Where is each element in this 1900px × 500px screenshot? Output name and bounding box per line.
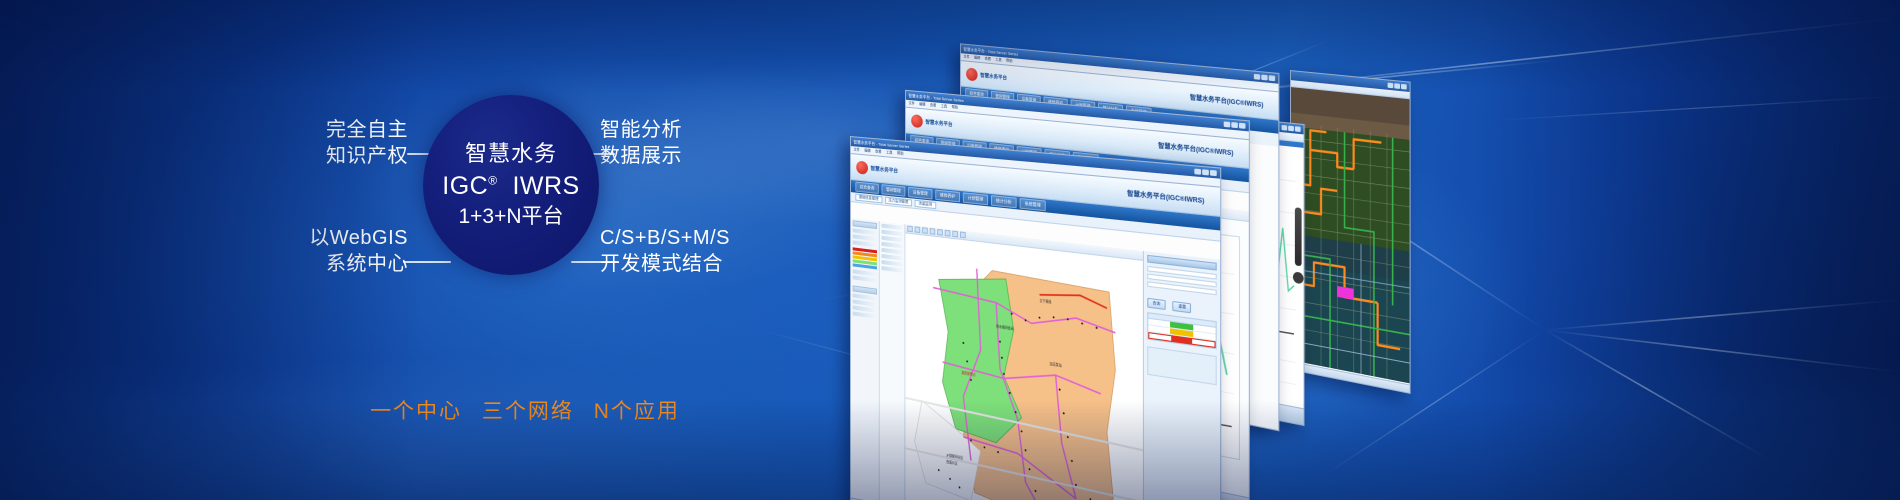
layer-tree-row[interactable]	[853, 275, 877, 282]
print-tool-icon	[952, 231, 958, 238]
feature-tree-pane[interactable]	[880, 221, 906, 500]
satellite-map-canvas[interactable]	[1291, 87, 1410, 383]
select-tool-icon	[930, 228, 936, 235]
zoom-in-tool-icon	[915, 226, 921, 233]
minimize-icon	[1254, 74, 1260, 80]
zoom-out-tool-icon	[922, 227, 928, 234]
layer-tree-row[interactable]	[853, 240, 877, 247]
menu-item-tools[interactable]: 工具	[886, 150, 892, 156]
connector-bottom-left	[403, 261, 451, 263]
feature-label-bottom-right: C/S+B/S+M/S 开发模式结合	[600, 225, 800, 278]
registered-mark-icon: ®	[488, 174, 497, 188]
map-canvas[interactable]: 供水管网信息 主干管段 乡镇管网分区 西南片区 加压泵站 漏损报警点	[905, 233, 1143, 500]
center-ellipse: 智慧水务 IGC® IWRS 1+3+N平台	[423, 95, 599, 275]
tagline-part-1: 一个中心	[370, 400, 462, 423]
banner-root: 完全自主 知识产权 以WebGIS 系统中心 智能分析 数据展示 C/S+B/S…	[0, 0, 1900, 500]
minimize-icon	[1224, 121, 1231, 127]
query-panel-footer	[1147, 346, 1216, 385]
feature-label-line1: 智能分析	[600, 117, 800, 143]
brand-title: 智慧水务平台(IGC®IWRS)	[1127, 188, 1213, 206]
feature-label-top-right: 智能分析 数据展示	[600, 117, 800, 170]
menu-item-edit[interactable]: 编辑	[864, 148, 870, 154]
maximize-icon	[1288, 126, 1294, 132]
feature-tree-row[interactable]	[882, 266, 903, 273]
company-logo-icon	[911, 114, 923, 128]
menu-item-file[interactable]: 文件	[963, 54, 969, 60]
pan-tool-icon	[907, 225, 913, 232]
brand-title: 智慧水务平台(IGC®IWRS)	[1190, 92, 1272, 110]
menu-item-view[interactable]: 查看	[930, 103, 936, 109]
menu-item-help[interactable]: 帮助	[952, 105, 958, 111]
menu-item-file[interactable]: 文件	[854, 147, 860, 153]
window-front-gis[interactable]: 智慧水务平台 - Total Server Series 文件 编辑 查看 工具…	[850, 136, 1221, 500]
layers-tool-icon	[960, 231, 966, 238]
window-controls[interactable]	[1224, 121, 1246, 128]
feature-label-bottom-left: 以WebGIS 系统中心	[235, 225, 408, 278]
reset-button[interactable]: 重置	[1173, 301, 1192, 313]
menu-item-edit[interactable]: 编辑	[919, 102, 925, 108]
close-icon	[1401, 84, 1407, 90]
feature-label-line2: 系统中心	[235, 251, 408, 277]
minimize-icon	[1194, 169, 1201, 175]
company-logo-icon	[856, 161, 868, 175]
query-panel[interactable]: 查询 重置	[1143, 251, 1220, 500]
maximize-icon	[1261, 75, 1267, 81]
feature-label-line1: C/S+B/S+M/S	[600, 225, 800, 251]
query-button[interactable]: 查询	[1147, 298, 1165, 310]
menu-item-file[interactable]: 文件	[909, 101, 915, 107]
feature-label-top-left: 完全自主 知识产权	[248, 117, 408, 170]
window-controls[interactable]	[1254, 74, 1275, 81]
menu-item-help[interactable]: 帮助	[897, 151, 903, 157]
measure-tool-icon	[937, 229, 943, 236]
menu-item-edit[interactable]: 编辑	[974, 55, 980, 61]
ellipse-brand-iwrs: IWRS	[512, 172, 579, 200]
window-controls[interactable]	[1281, 125, 1300, 132]
menu-item-view[interactable]: 查看	[875, 149, 881, 155]
ellipse-title-cn: 智慧水务	[465, 142, 557, 166]
layer-tree-pane[interactable]	[851, 218, 880, 500]
maximize-icon	[1231, 122, 1238, 128]
brand-title: 智慧水务平台(IGC®IWRS)	[1158, 140, 1242, 158]
feature-label-line2: 数据展示	[600, 143, 800, 169]
gis-workspace: 供水管网信息 主干管段 乡镇管网分区 西南片区 加压泵站 漏损报警点	[851, 218, 1220, 500]
menu-item-tools[interactable]: 工具	[995, 57, 1001, 63]
concept-diagram: 完全自主 知识产权 以WebGIS 系统中心 智能分析 数据展示 C/S+B/S…	[255, 95, 795, 385]
minimize-icon	[1281, 125, 1287, 131]
ellipse-subtitle: 1+3+N平台	[458, 205, 563, 228]
feature-label-line2: 知识产权	[248, 143, 408, 169]
ellipse-title-en: IGC® IWRS	[442, 173, 579, 199]
brand-logo-text: 智慧水务平台	[925, 118, 952, 128]
feature-label-line1: 以WebGIS	[235, 225, 408, 251]
maximize-icon	[1202, 169, 1209, 175]
close-icon	[1210, 170, 1217, 176]
menu-item-tools[interactable]: 工具	[941, 104, 947, 110]
legend-swatches	[853, 247, 877, 269]
minimize-icon	[1388, 83, 1394, 89]
menu-item-view[interactable]: 查看	[985, 56, 991, 62]
brand-logo-text: 智慧水务平台	[871, 165, 898, 175]
subnav-item-pressure[interactable]: 压力监测管理	[885, 197, 912, 207]
window-satellite-map[interactable]	[1290, 70, 1411, 394]
tagline-part-3: N个应用	[594, 400, 680, 423]
identify-tool-icon	[945, 230, 951, 237]
subnav-item-basic-info[interactable]: 基础信息管理	[855, 194, 882, 204]
ellipse-brand-igc: IGC	[442, 172, 488, 200]
feature-label-line1: 完全自主	[248, 117, 408, 143]
close-icon	[1269, 75, 1275, 81]
screenshot-stack: 流量曲线 时间/小时 智慧水务平台 - Total Server Series	[960, 40, 1680, 460]
menu-item-help[interactable]: 帮助	[1006, 59, 1012, 65]
window-controls[interactable]	[1194, 169, 1216, 177]
tagline-part-2: 三个网络	[482, 400, 574, 423]
close-icon	[1295, 126, 1301, 132]
layer-tree-row[interactable]	[853, 311, 877, 319]
feature-label-line2: 开发模式结合	[600, 251, 800, 277]
brand-logo-text: 智慧水务平台	[980, 72, 1007, 82]
close-icon	[1239, 123, 1246, 129]
company-logo-icon	[966, 67, 977, 81]
tagline: 一个中心 三个网络 N个应用	[255, 395, 795, 425]
window-controls[interactable]	[1388, 83, 1407, 90]
maximize-icon	[1394, 83, 1400, 89]
subnav-item-flow[interactable]: 流量监测	[915, 200, 936, 209]
zoom-slider[interactable]	[1295, 207, 1302, 266]
map-pane[interactable]: 供水管网信息 主干管段 乡镇管网分区 西南片区 加压泵站 漏损报警点	[905, 224, 1143, 500]
